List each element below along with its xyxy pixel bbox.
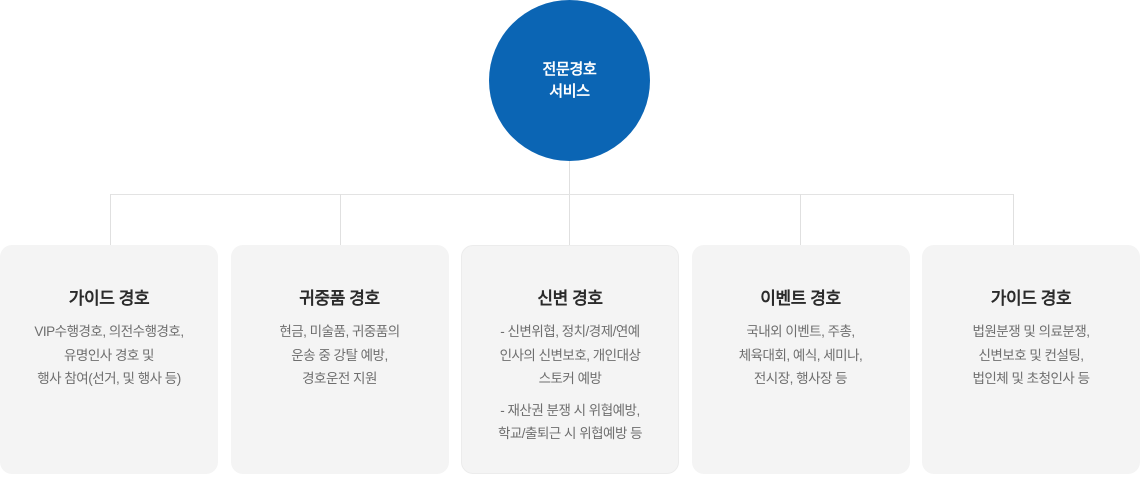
- service-card-body: 현금, 미술품, 귀중품의 운송 중 강탈 예방, 경호운전 지원: [241, 320, 439, 390]
- service-card-body: VIP수행경호, 의전수행경호, 유명인사 경호 및 행사 참여(선거, 및 행…: [10, 320, 208, 390]
- connector-stem-vertical: [569, 158, 570, 246]
- org-chart-diagram: 전문경호 서비스 가이드 경호 VIP수행경호, 의전수행경호, 유명인사 경호…: [0, 0, 1140, 479]
- service-card-body-secondary: - 재산권 분쟁 시 위협예방, 학교/출퇴근 시 위협예방 등: [472, 399, 668, 445]
- service-card-title: 가이드 경호: [932, 289, 1130, 309]
- service-card-row: 가이드 경호 VIP수행경호, 의전수행경호, 유명인사 경호 및 행사 참여(…: [0, 245, 1140, 475]
- service-card-featured[interactable]: 신변 경호 - 신변위협, 정치/경제/연예 인사의 신변보호, 개인대상 스토…: [461, 245, 679, 474]
- service-card-body: 국내외 이벤트, 주총, 체육대회, 예식, 세미나, 전시장, 행사장 등: [702, 320, 900, 390]
- hub-node-label: 전문경호 서비스: [542, 59, 596, 102]
- service-card[interactable]: 가이드 경호 법원분쟁 및 의료분쟁, 신변보호 및 컨설팅, 법인체 및 초청…: [922, 245, 1140, 474]
- connector-drop-card-1: [110, 194, 111, 246]
- service-card-title: 이벤트 경호: [702, 289, 900, 309]
- service-card-body: 법원분쟁 및 의료분쟁, 신변보호 및 컨설팅, 법인체 및 초청인사 등: [932, 320, 1130, 390]
- connector-drop-card-4: [800, 194, 801, 246]
- connector-drop-card-5: [1013, 194, 1014, 246]
- service-card[interactable]: 가이드 경호 VIP수행경호, 의전수행경호, 유명인사 경호 및 행사 참여(…: [0, 245, 218, 474]
- service-card[interactable]: 이벤트 경호 국내외 이벤트, 주총, 체육대회, 예식, 세미나, 전시장, …: [692, 245, 910, 474]
- service-card-title: 신변 경호: [472, 289, 668, 309]
- service-card-title: 가이드 경호: [10, 289, 208, 309]
- service-card-title: 귀중품 경호: [241, 289, 439, 309]
- connector-drop-card-2: [340, 194, 341, 246]
- connector-horizontal-bus: [110, 194, 1014, 195]
- service-card-body: - 신변위협, 정치/경제/연예 인사의 신변보호, 개인대상 스토커 예방: [472, 320, 668, 390]
- hub-node-security-service[interactable]: 전문경호 서비스: [489, 0, 650, 161]
- service-card[interactable]: 귀중품 경호 현금, 미술품, 귀중품의 운송 중 강탈 예방, 경호운전 지원: [231, 245, 449, 474]
